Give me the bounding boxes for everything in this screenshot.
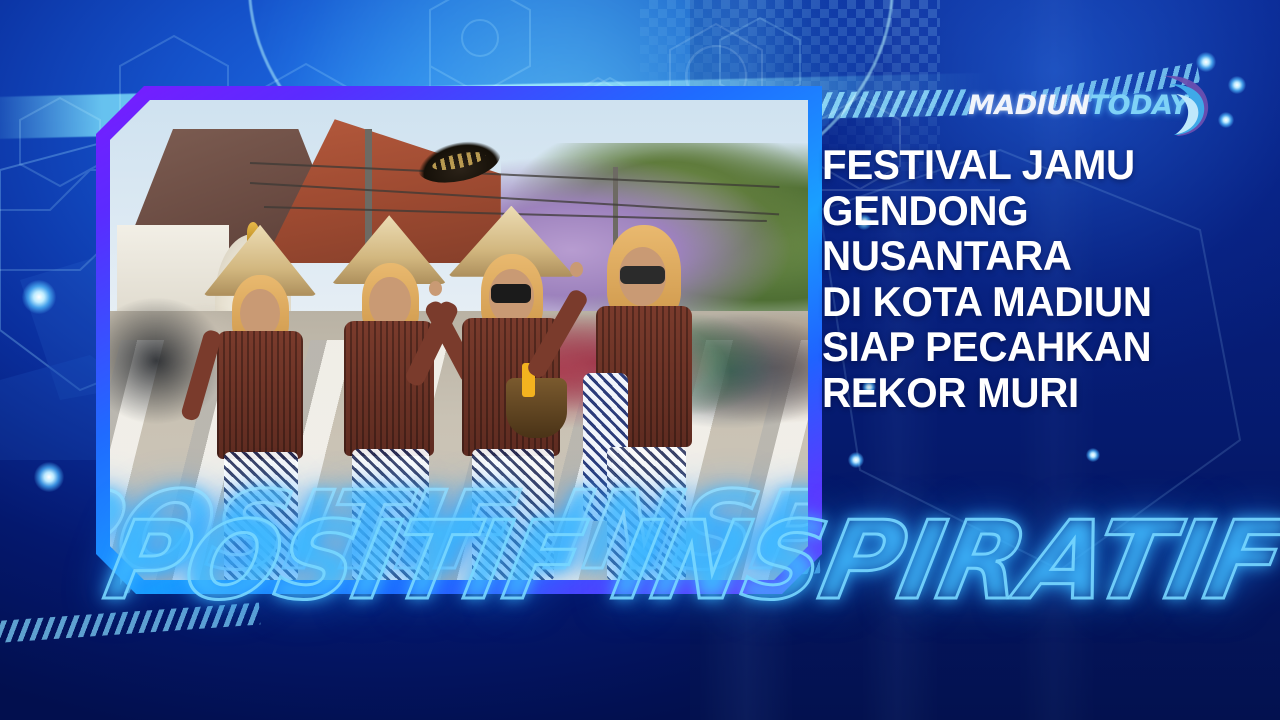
news-thumbnail: POSITIF INSPIRATIF POSITIF INSPIRATIF MA… [0, 0, 1280, 720]
headline-line-2: GENDONG [822, 188, 1256, 234]
glow-dot [1218, 112, 1234, 128]
headline-line-6: REKOR MURI [822, 370, 1256, 416]
parade-participant [326, 215, 452, 580]
waving-hand [429, 281, 442, 296]
crescent-swoosh-icon [1150, 72, 1212, 138]
headline-line-3: NUSANTARA [822, 233, 1256, 279]
waving-hand [570, 262, 583, 277]
headline-line-5: SIAP PECAHKAN [822, 324, 1256, 370]
madiuntoday-logo[interactable]: MADIUNTODAY [968, 74, 1208, 138]
eyeglasses [620, 266, 665, 284]
batik-skirt [224, 452, 298, 580]
parade-participant [578, 210, 711, 580]
photo-container: POSITIF INSPIRATIF [110, 100, 808, 580]
glow-dot [1196, 52, 1216, 72]
glow-dot [848, 452, 864, 468]
lurik-kebaya [344, 321, 434, 456]
parade-participant [445, 206, 578, 580]
headline-line-1: FESTIVAL JAMU [822, 142, 1256, 188]
parade-photo: POSITIF INSPIRATIF [110, 100, 808, 580]
glow-dot [1228, 76, 1246, 94]
photo-frame: POSITIF INSPIRATIF [96, 86, 822, 594]
batik-skirt [472, 449, 554, 580]
sunglasses [491, 284, 531, 303]
batik-skirt [352, 449, 430, 580]
glow-dot [1086, 448, 1100, 462]
headline: FESTIVAL JAMU GENDONG NUSANTARA DI KOTA … [822, 142, 1256, 415]
glow-dot [22, 280, 56, 314]
headline-line-4: DI KOTA MADIUN [822, 279, 1256, 325]
jamu-basket [506, 378, 567, 438]
parade-participant [201, 225, 320, 580]
batik-skirt [607, 447, 687, 580]
lurik-kebaya [217, 331, 302, 459]
logo-text-madiun: MADIUN [968, 90, 1090, 121]
glow-dot [34, 462, 64, 492]
